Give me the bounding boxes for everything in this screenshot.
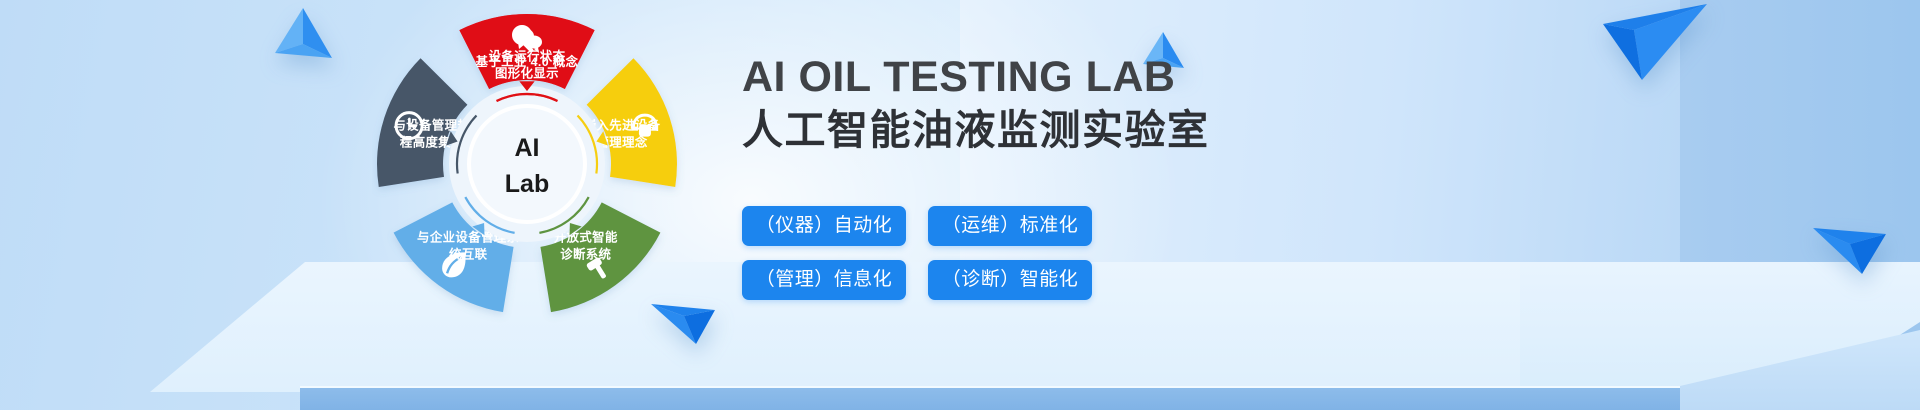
wheel-segment-label-enterprise-link-1: 统互联 [449, 246, 488, 261]
feature-tag-operation[interactable]: （运维）标准化 [928, 206, 1092, 246]
stage-platform-face [300, 388, 1920, 410]
headline-block: AI OIL TESTING LAB 人工智能油液监测实验室 [742, 52, 1462, 156]
triangle-bottom-right-icon [1810, 222, 1890, 288]
wheel-segment-label-status-visualization-1: 图形化显示 [495, 66, 559, 81]
page-title-cn: 人工智能油液监测实验室 [742, 104, 1462, 156]
feature-tag-diagnosis[interactable]: （诊断）智能化 [928, 260, 1092, 300]
hub-label-line2: Lab [505, 170, 549, 198]
ai-lab-wheel-diagram: 基于工业 4.0 概念嵌入先进设备管理理念开放式智能诊断系统与企业设备管理系统互… [372, 4, 702, 334]
feature-tag-management[interactable]: （管理）信息化 [742, 260, 906, 300]
wheel-segment-label-open-diagnosis-1: 诊断系统 [560, 246, 611, 261]
hero-banner: 基于工业 4.0 概念嵌入先进设备管理理念开放式智能诊断系统与企业设备管理系统互… [0, 0, 1920, 410]
triangle-top-left-icon [272, 6, 334, 66]
feature-tag-instrument[interactable]: （仪器）自动化 [742, 206, 906, 246]
wheel-segment-label-status-visualization-0: 设备运行状态 [489, 49, 566, 64]
triangle-top-right-large-icon [1600, 2, 1710, 94]
hub-label-line1: AI [515, 134, 540, 162]
wheel-hub-inner [469, 106, 585, 222]
feature-tag-list: （仪器）自动化 （运维）标准化 （管理）信息化 （诊断）智能化 [742, 206, 1302, 300]
page-title-en: AI OIL TESTING LAB [742, 52, 1462, 102]
